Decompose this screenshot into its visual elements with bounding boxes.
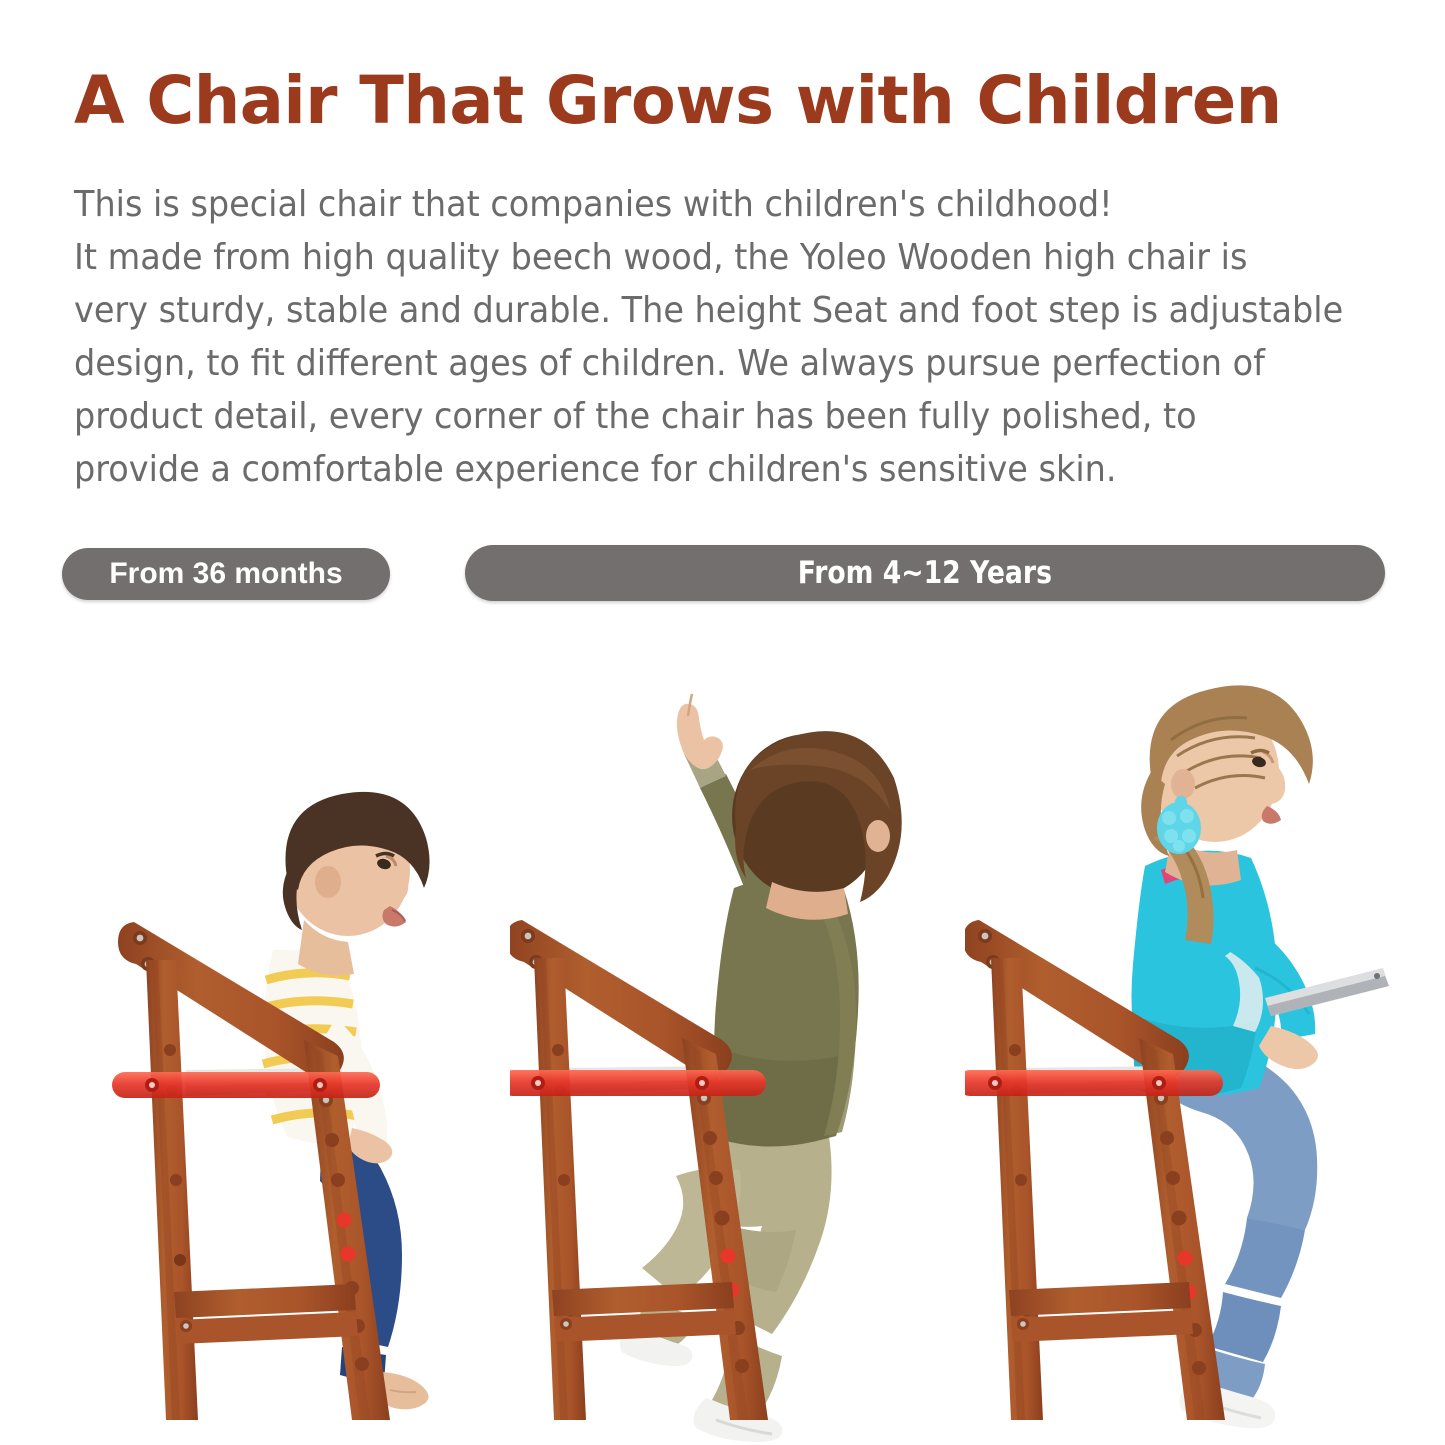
- description-line: very sturdy, stable and durable. The hei…: [74, 284, 1311, 337]
- description-paragraph: This is special chair that companies wit…: [74, 178, 1311, 496]
- page-title: A Chair That Grows with Children: [74, 62, 1381, 140]
- description-line: This is special chair that companies wit…: [74, 178, 1311, 231]
- height-adjust-highlight: [965, 1070, 1223, 1096]
- age-badge-4-12-years: From 4~12 Years: [465, 545, 1385, 601]
- photo-toddler-seated: [90, 620, 510, 1445]
- age-badge-label: From 4~12 Years: [798, 555, 1052, 591]
- height-adjust-highlight: [112, 1072, 380, 1098]
- description-line: product detail, every corner of the chai…: [74, 390, 1311, 443]
- age-badge-36-months: From 36 months: [62, 548, 390, 600]
- photo-girl-with-tablet: [965, 620, 1405, 1445]
- description-line: design, to fit different ages of childre…: [74, 337, 1311, 390]
- product-photo-row: [0, 620, 1445, 1445]
- description-line: It made from high quality beech wood, th…: [74, 231, 1311, 284]
- age-badge-label: From 36 months: [109, 557, 342, 591]
- product-feature-banner: A Chair That Grows with Children This is…: [0, 0, 1445, 1445]
- description-line: provide a comfortable experience for chi…: [74, 443, 1311, 496]
- photo-boy-climbing: [510, 620, 970, 1445]
- height-adjust-highlight: [510, 1070, 766, 1096]
